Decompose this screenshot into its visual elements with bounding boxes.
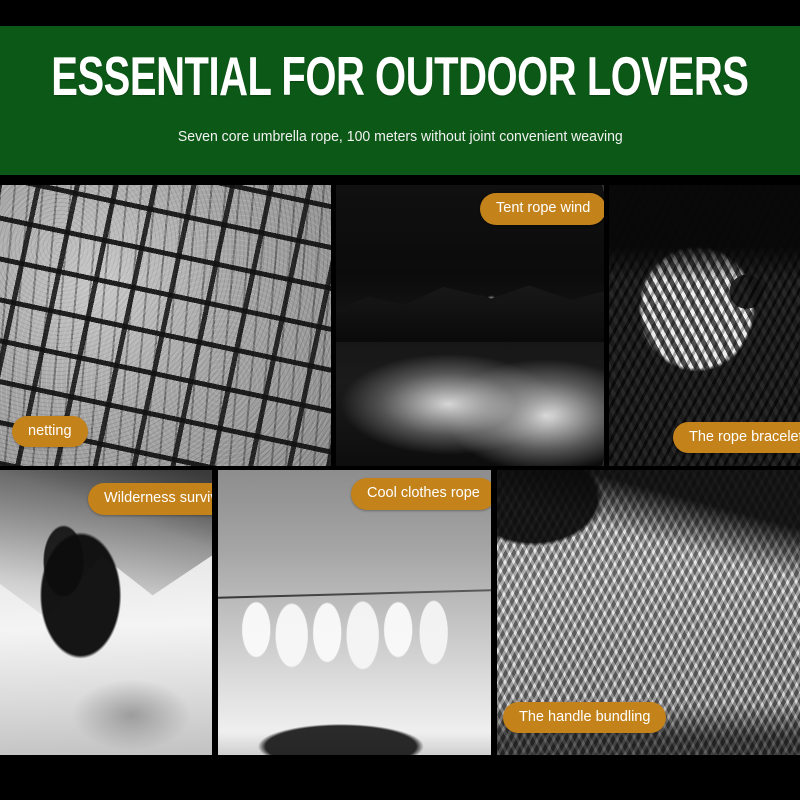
gallery-panel-handle[interactable]: The handle bundling <box>497 470 800 755</box>
header-banner: ESSENTIAL FOR OUTDOOR LOVERS Seven core … <box>0 26 800 175</box>
page-subtitle: Seven core umbrella rope, 100 meters wit… <box>178 129 623 145</box>
clothesline-photo <box>218 470 491 755</box>
gallery-panel-bracelet[interactable]: The rope bracelet <box>609 185 800 466</box>
panel-label-cool-clothes-rope: Cool clothes rope <box>351 478 491 510</box>
gallery-panel-tent[interactable]: Tent rope wind <box>336 185 604 466</box>
gallery-panel-netting[interactable]: netting <box>0 185 331 466</box>
gallery-panel-wilderness[interactable]: Wilderness survival <box>0 470 212 755</box>
panel-label-tent-rope-wind: Tent rope wind <box>480 193 604 225</box>
page-title: ESSENTIAL FOR OUTDOOR LOVERS <box>51 50 748 105</box>
panel-label-wilderness-survival: Wilderness survival <box>88 483 212 515</box>
gallery-panel-clothesline[interactable]: Cool clothes rope <box>218 470 491 755</box>
panel-label-handle-bundling: The handle bundling <box>503 702 666 734</box>
panel-label-rope-bracelet: The rope bracelet <box>673 422 800 454</box>
panel-label-netting: netting <box>12 416 88 448</box>
promo-page: ESSENTIAL FOR OUTDOOR LOVERS Seven core … <box>0 0 800 800</box>
tent-night-photo <box>336 185 604 466</box>
image-gallery: netting Tent rope wind The rope bracelet… <box>0 185 800 755</box>
